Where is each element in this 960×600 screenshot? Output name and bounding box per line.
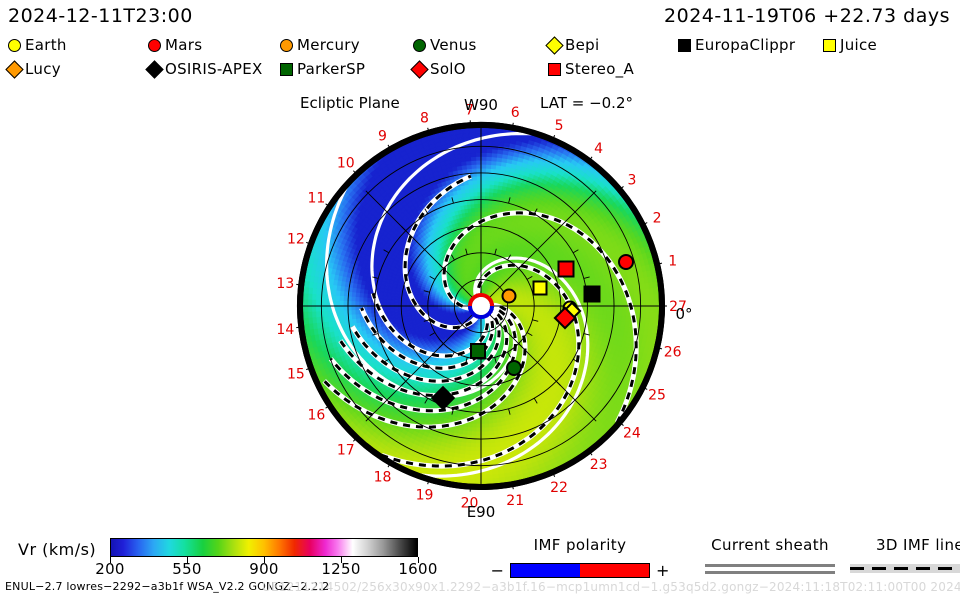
hour-label: 22 [550, 480, 568, 496]
imf-polarity-title: IMF polarity [480, 536, 680, 554]
object-marker-europaclippr[interactable] [585, 287, 600, 302]
object-marker-parkersp[interactable] [471, 344, 485, 358]
diamond-marker-icon [145, 60, 163, 78]
hour-label: 12 [287, 232, 305, 248]
hour-label: 4 [594, 141, 603, 157]
run-id-watermark: UE1211214502/256x30x90x1.2292−a3b1f.16−m… [262, 580, 960, 594]
polarity-minus-sign: − [485, 561, 510, 580]
object-legend: EarthMarsMercuryVenusBepiEuropaClipprJui… [8, 36, 952, 84]
legend-item-europaclippr[interactable]: EuropaClippr [678, 36, 795, 54]
object-marker-venus[interactable] [507, 361, 521, 375]
sheath-line-top [705, 564, 835, 567]
hour-label: 24 [623, 426, 641, 442]
circle-marker-icon [148, 39, 161, 52]
polarity-negative-swatch [511, 564, 580, 577]
circle-marker-icon [8, 39, 21, 52]
legend-item-label: Mercury [297, 36, 360, 54]
legend-item-parkersp[interactable]: ParkerSP [280, 60, 365, 78]
hour-label: 23 [590, 457, 608, 473]
axis-label-zero: 0° [675, 305, 692, 323]
axis-label-e90: E90 [467, 503, 496, 521]
legend-item-label: Lucy [25, 60, 61, 78]
sun-center-marker [470, 295, 492, 317]
plot-canvas[interactable]: 1234567891011121314151617181920212223242… [240, 92, 720, 522]
diamond-marker-icon [410, 60, 428, 78]
hour-label: 3 [627, 172, 636, 188]
sheath-line-bottom [705, 571, 835, 574]
hour-label: 15 [287, 366, 305, 382]
hour-label: 21 [506, 493, 524, 509]
square-marker-icon [823, 39, 836, 52]
legend-item-label: Juice [840, 36, 877, 54]
hour-label: 18 [374, 470, 392, 486]
hour-label: 14 [276, 322, 294, 338]
imf-3d-dash [850, 567, 960, 570]
legend-item-label: Mars [165, 36, 202, 54]
colorbar-title: Vr (km/s) [18, 540, 96, 559]
hour-label: 19 [416, 488, 434, 504]
circle-marker-icon [413, 39, 426, 52]
imf-3d-line-sample [850, 564, 960, 573]
legend-item-stereo-a[interactable]: Stereo_A [548, 60, 634, 78]
enlil-solar-wind-viewer: 2024-12-11T23:00 2024-11-19T06 +22.73 da… [0, 0, 960, 600]
hour-label: 25 [648, 387, 666, 403]
polarity-positive-swatch [580, 564, 649, 577]
hour-label: 6 [511, 105, 520, 121]
legend-item-label: Earth [25, 36, 67, 54]
legend-item-juice[interactable]: Juice [823, 36, 877, 54]
object-marker-mars[interactable] [619, 255, 633, 269]
legend-item-lucy[interactable]: Lucy [8, 60, 61, 78]
legend-item-label: Venus [430, 36, 477, 54]
circle-marker-icon [280, 39, 293, 52]
hour-label: 16 [307, 407, 325, 423]
colorbar-gradient [110, 538, 418, 557]
hour-label: 26 [664, 344, 682, 360]
legend-item-label: SolO [430, 60, 466, 78]
run-start-timestamp: 2024-11-19T06 +22.73 days [664, 5, 950, 27]
current-timestamp: 2024-12-11T23:00 [8, 5, 193, 27]
diamond-marker-icon [545, 36, 563, 54]
polarity-bar [510, 563, 650, 578]
legend-item-label: OSIRIS-APEX [165, 60, 263, 78]
axis-label-w90: W90 [464, 96, 498, 114]
legend-item-label: Stereo_A [565, 60, 634, 78]
hour-label: 9 [378, 128, 387, 144]
imf-polarity-legend: IMF polarity − + [480, 536, 680, 580]
hour-label: 8 [420, 110, 429, 126]
legend-item-mercury[interactable]: Mercury [280, 36, 360, 54]
object-marker-mercury[interactable] [503, 290, 516, 303]
plot-title-latitude: LAT = −0.2° [540, 94, 633, 112]
legend-item-mars[interactable]: Mars [148, 36, 202, 54]
legend-row-0: EarthMarsMercuryVenusBepiEuropaClipprJui… [8, 36, 952, 60]
legend-item-label: ParkerSP [297, 60, 365, 78]
imf-3d-line-legend: 3D IMF line [840, 536, 960, 573]
imf-3d-line-title: 3D IMF line [840, 536, 960, 554]
legend-item-venus[interactable]: Venus [413, 36, 477, 54]
legend-row-1: LucyOSIRIS-APEXParkerSPSolOStereo_A [8, 60, 952, 84]
hour-label: 2 [653, 211, 662, 227]
hour-label: 13 [276, 276, 294, 292]
colorbar-tick-label: 1600 [398, 560, 437, 578]
square-marker-icon [280, 63, 293, 76]
hour-label: 10 [337, 156, 355, 172]
object-marker-stereo-a[interactable] [559, 262, 574, 277]
legend-item-label: EuropaClippr [695, 36, 795, 54]
legend-item-earth[interactable]: Earth [8, 36, 67, 54]
object-marker-juice[interactable] [534, 282, 547, 295]
legend-item-osiris-apex[interactable]: OSIRIS-APEX [148, 60, 263, 78]
polar-heatmap-plot: 1234567891011121314151617181920212223242… [240, 92, 720, 522]
square-marker-icon [678, 39, 691, 52]
legend-item-bepi[interactable]: Bepi [548, 36, 599, 54]
plot-title-ecliptic-plane: Ecliptic Plane [300, 94, 400, 112]
colorbar-tick-label: 550 [172, 560, 202, 578]
hour-label: 11 [307, 191, 325, 207]
legend-item-solo[interactable]: SolO [413, 60, 466, 78]
colorbar-tick-label: 900 [249, 560, 279, 578]
hour-label: 1 [668, 254, 677, 270]
square-marker-icon [548, 63, 561, 76]
hour-label: 17 [337, 442, 355, 458]
colorbar-tick-label: 1250 [321, 560, 360, 578]
colorbar-tick-label: 200 [95, 560, 125, 578]
hour-label: 5 [555, 118, 564, 134]
diamond-marker-icon [5, 60, 23, 78]
legend-item-label: Bepi [565, 36, 599, 54]
